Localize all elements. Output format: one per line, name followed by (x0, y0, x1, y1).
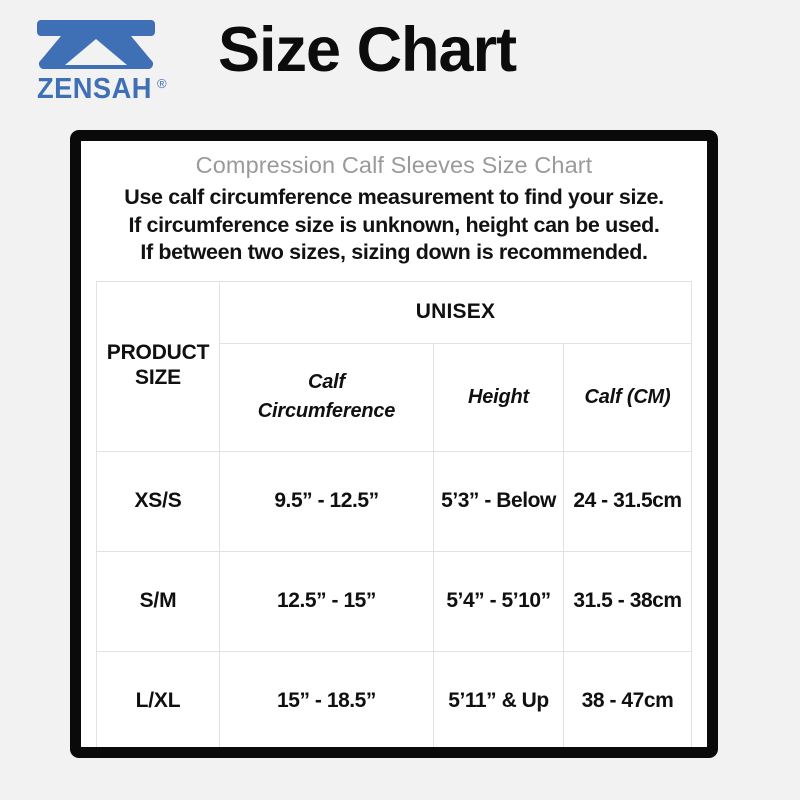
cell-calf-circumference: 9.5” - 12.5” (220, 451, 434, 551)
cell-calf-cm: 24 - 31.5cm (564, 451, 692, 551)
header-calf-cm: Calf (CM) (564, 343, 692, 451)
header-unisex: UNISEX (220, 281, 692, 343)
size-chart-table: PRODUCT SIZE UNISEX Calf Circumference H… (96, 281, 692, 747)
table-row: S/M 12.5” - 15” 5’4” - 5’10” 31.5 - 38cm (97, 551, 692, 651)
header-product-size-line2: SIZE (135, 366, 181, 389)
table-header-row-group: PRODUCT SIZE UNISEX (97, 281, 692, 343)
cell-calf-cm: 38 - 47cm (564, 651, 692, 747)
zensah-z-mark-icon (35, 18, 157, 78)
cell-calf-circumference: 12.5” - 15” (220, 551, 434, 651)
table-row: L/XL 15” - 18.5” 5’11” & Up 38 - 47cm (97, 651, 692, 747)
cell-size: XS/S (97, 451, 220, 551)
cell-size: L/XL (97, 651, 220, 747)
cell-height: 5’11” & Up (434, 651, 564, 747)
header-calf-circumference-line1: Calf (308, 371, 345, 393)
zensah-wordmark: ZENSAH (37, 75, 155, 104)
cell-height: 5’4” - 5’10” (434, 551, 564, 651)
registered-trademark-icon: ® (157, 76, 167, 91)
table-row: XS/S 9.5” - 12.5” 5’3” - Below 24 - 31.5… (97, 451, 692, 551)
instruction-line-1: Use calf circumference measurement to fi… (87, 184, 701, 212)
cell-calf-circumference: 15” - 18.5” (220, 651, 434, 747)
chart-subtitle: Compression Calf Sleeves Size Chart (81, 152, 707, 179)
instruction-line-2: If circumference size is unknown, height… (87, 212, 701, 240)
instruction-line-3: If between two sizes, sizing down is rec… (87, 239, 701, 267)
chart-frame: Compression Calf Sleeves Size Chart Use … (70, 130, 718, 758)
header-calf-circumference: Calf Circumference (220, 343, 434, 451)
page-title: Size Chart (218, 17, 516, 83)
zensah-logo: ZENSAH ® (35, 18, 185, 110)
cell-height: 5’3” - Below (434, 451, 564, 551)
cell-calf-cm: 31.5 - 38cm (564, 551, 692, 651)
header-height: Height (434, 343, 564, 451)
cell-size: S/M (97, 551, 220, 651)
size-chart-page: ZENSAH ® Size Chart Compression Calf Sle… (0, 0, 800, 800)
header-product-size-line1: PRODUCT (107, 341, 209, 364)
header-product-size: PRODUCT SIZE (97, 281, 220, 451)
page-header: ZENSAH ® Size Chart (0, 0, 800, 126)
header-calf-circumference-line2: Circumference (258, 400, 395, 422)
chart-card: Compression Calf Sleeves Size Chart Use … (81, 141, 707, 747)
instructions-block: Use calf circumference measurement to fi… (81, 184, 707, 267)
